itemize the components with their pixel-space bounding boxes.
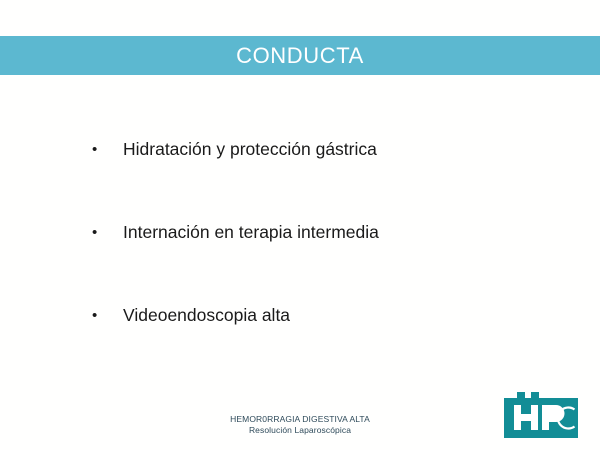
list-item-label: Internación en terapia intermedia (123, 221, 379, 243)
page-title: CONDUCTA (236, 45, 364, 67)
bullet-list: Hidratación y protección gástrica Intern… (0, 130, 600, 379)
list-item: Internación en terapia intermedia (0, 213, 600, 296)
slide-canvas: CONDUCTA Hidratación y protección gástri… (0, 0, 600, 450)
list-item-label: Videoendoscopia alta (123, 304, 290, 326)
hpc-logo (504, 392, 578, 438)
list-item: Videoendoscopia alta (0, 296, 600, 379)
list-item: Hidratación y protección gástrica (0, 130, 600, 213)
bullet-dot-icon (92, 146, 100, 154)
slide-title-bar: CONDUCTA (0, 36, 600, 75)
hpc-logo-icon (504, 392, 578, 438)
list-item-label: Hidratación y protección gástrica (123, 138, 377, 160)
bullet-dot-icon (92, 312, 100, 320)
bullet-dot-icon (92, 229, 100, 237)
